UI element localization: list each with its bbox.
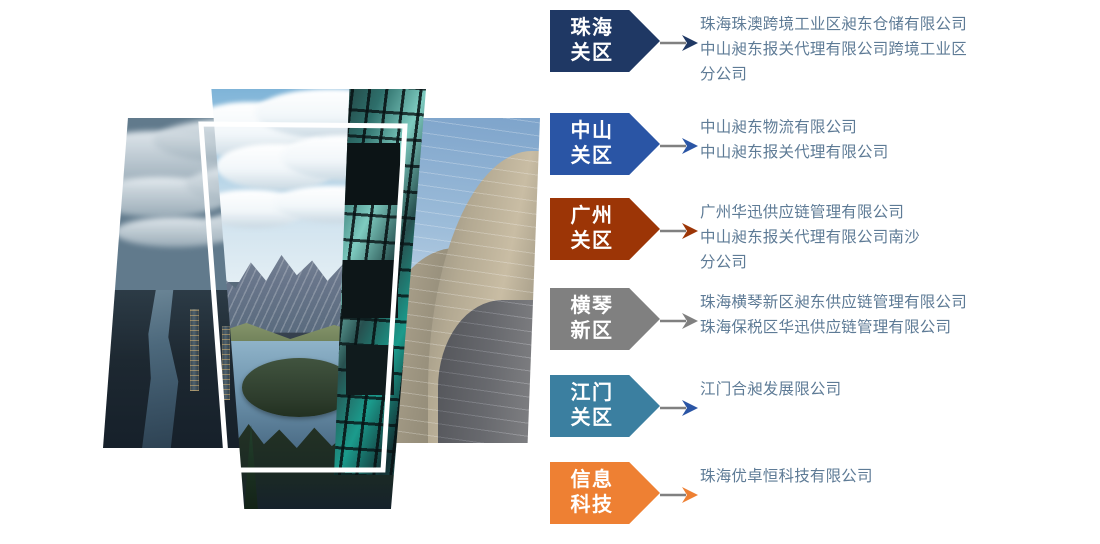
company-list-zhongshan: 中山昶东物流有限公司 中山昶东报关代理有限公司 [700, 113, 888, 165]
org-row-hengqin[interactable]: 横琴 新区 珠海横琴新区昶东供应链管理有限公司 珠海保税区华迅供应链管理有限公司 [550, 288, 967, 350]
collage-panel-mountain-lake [207, 89, 426, 509]
badge-line-2: 关区 [571, 229, 614, 254]
skyscraper [222, 326, 230, 400]
company-name: 珠海优卓恒科技有限公司 [700, 464, 873, 489]
badge-zhongshan[interactable]: 中山 关区 [550, 113, 660, 175]
badge-line-1: 江门 [571, 381, 614, 406]
company-name: 分公司 [700, 62, 967, 87]
badge-guangzhou[interactable]: 广州 关区 [550, 198, 660, 260]
company-list-guangzhou: 广州华迅供应链管理有限公司 中山昶东报关代理有限公司南沙 分公司 [700, 198, 920, 275]
company-name: 中山昶东物流有限公司 [700, 115, 888, 140]
arrow-connector-guangzhou [660, 222, 700, 240]
badge-line-2: 关区 [571, 144, 614, 169]
badge-information-technology[interactable]: 信息 科技 [550, 462, 660, 524]
org-row-zhongshan[interactable]: 中山 关区 中山昶东物流有限公司 中山昶东报关代理有限公司 [550, 113, 888, 175]
company-list-hengqin: 珠海横琴新区昶东供应链管理有限公司 珠海保税区华迅供应链管理有限公司 [700, 288, 967, 340]
company-name: 中山昶东报关代理有限公司南沙 [700, 225, 920, 250]
arrow-connector-jiangmen [660, 399, 700, 417]
company-name: 珠海横琴新区昶东供应链管理有限公司 [700, 290, 967, 315]
arrow-connector-zhuhai [660, 34, 700, 52]
arrow-connector-zhongshan [660, 137, 700, 155]
mountain-lake-artwork [207, 89, 426, 509]
company-list-zhuhai: 珠海珠澳跨境工业区昶东仓储有限公司 中山昶东报关代理有限公司跨境工业区 分公司 [700, 10, 967, 87]
company-name: 珠海保税区华迅供应链管理有限公司 [700, 315, 967, 340]
badge-line-1: 珠海 [571, 16, 614, 41]
badge-zhuhai[interactable]: 珠海 关区 [550, 10, 660, 72]
company-list-information-technology: 珠海优卓恒科技有限公司 [700, 462, 873, 489]
company-name: 江门合昶发展限公司 [700, 377, 841, 402]
badge-line-1: 横琴 [571, 294, 614, 319]
badge-jiangmen[interactable]: 江门 关区 [550, 375, 660, 437]
org-row-zhuhai[interactable]: 珠海 关区 珠海珠澳跨境工业区昶东仓储有限公司 中山昶东报关代理有限公司跨境工业… [550, 10, 967, 87]
image-collage [0, 0, 545, 544]
org-row-guangzhou[interactable]: 广州 关区 广州华迅供应链管理有限公司 中山昶东报关代理有限公司南沙 分公司 [550, 198, 920, 275]
badge-hengqin[interactable]: 横琴 新区 [550, 288, 660, 350]
badge-line-2: 关区 [571, 41, 614, 66]
badge-line-1: 信息 [571, 468, 614, 493]
company-name: 分公司 [700, 250, 920, 275]
company-list-jiangmen: 江门合昶发展限公司 [700, 375, 841, 402]
badge-line-2: 科技 [571, 493, 614, 518]
badge-line-2: 关区 [571, 406, 614, 431]
light-streak [153, 422, 236, 424]
company-name: 广州华迅供应链管理有限公司 [700, 200, 920, 225]
arrow-connector-information-technology [660, 486, 700, 504]
company-name: 珠海珠澳跨境工业区昶东仓储有限公司 [700, 12, 967, 37]
badge-line-2: 新区 [571, 319, 614, 344]
org-row-information-technology[interactable]: 信息 科技 珠海优卓恒科技有限公司 [550, 462, 873, 524]
company-name: 中山昶东报关代理有限公司 [700, 140, 888, 165]
badge-line-1: 广州 [571, 204, 614, 229]
arrow-connector-hengqin [660, 312, 700, 330]
organization-rows: 珠海 关区 珠海珠澳跨境工业区昶东仓储有限公司 中山昶东报关代理有限公司跨境工业… [550, 0, 1100, 544]
badge-line-1: 中山 [571, 119, 614, 144]
company-name: 中山昶东报关代理有限公司跨境工业区 [700, 37, 967, 62]
org-row-jiangmen[interactable]: 江门 关区 江门合昶发展限公司 [550, 375, 841, 437]
